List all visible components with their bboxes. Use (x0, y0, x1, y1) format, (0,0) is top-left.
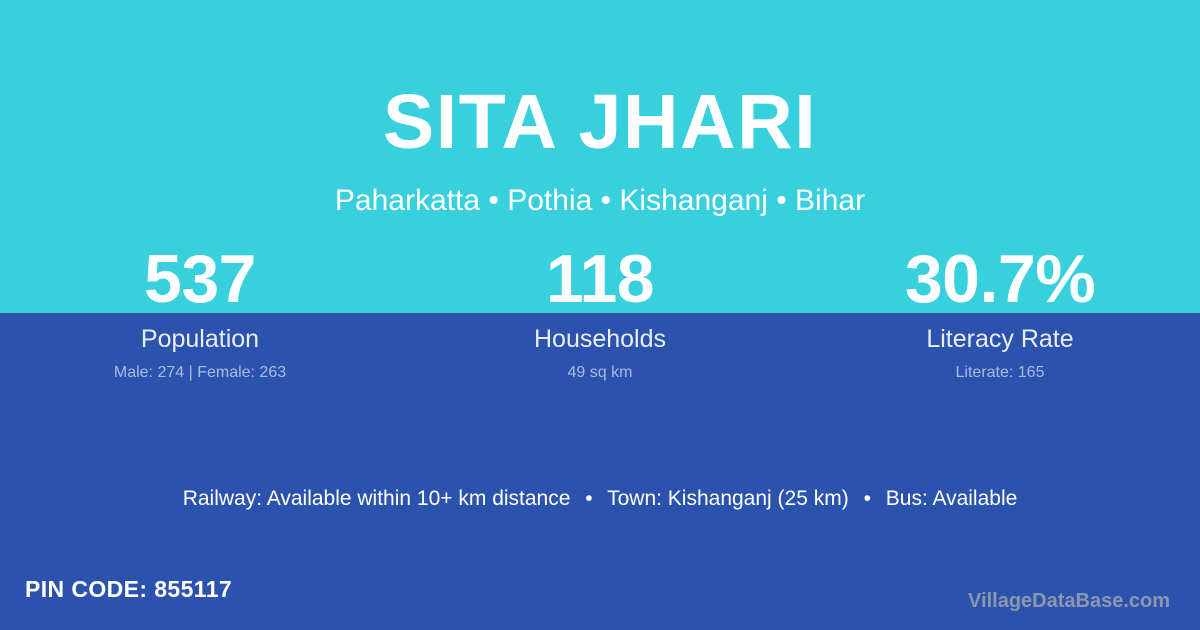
infra-bus: Bus: Available (886, 487, 1018, 510)
pin-code: PIN CODE: 855117 (25, 575, 232, 605)
stat-population: 537 Population Male: 274 | Female: 263 (0, 245, 400, 382)
page-title: SITA JHARI (0, 84, 1200, 161)
village-info-card: SITA JHARI Paharkatta • Pothia • Kishang… (0, 0, 1200, 630)
bullet-separator-icon: • (576, 485, 601, 512)
stat-population-label: Population (0, 325, 400, 354)
infrastructure-summary: Railway: Available within 10+ km distanc… (0, 485, 1200, 512)
stat-households: 118 Households 49 sq km (400, 245, 800, 382)
infra-railway: Railway: Available within 10+ km distanc… (183, 487, 571, 510)
stat-households-sub: 49 sq km (400, 364, 800, 382)
stat-population-sub: Male: 274 | Female: 263 (0, 364, 400, 382)
stat-population-value: 537 (0, 245, 400, 313)
stat-households-label: Households (400, 325, 800, 354)
site-branding: VillageDataBase.com (968, 588, 1170, 614)
infra-town: Town: Kishanganj (25 km) (607, 487, 849, 510)
stat-literacy-value: 30.7% (800, 245, 1200, 313)
bullet-separator-icon: • (855, 485, 880, 512)
stat-literacy-sub: Literate: 165 (800, 364, 1200, 382)
stat-literacy: 30.7% Literacy Rate Literate: 165 (800, 245, 1200, 382)
breadcrumb: Paharkatta • Pothia • Kishanganj • Bihar (0, 183, 1200, 219)
stats-row: 537 Population Male: 274 | Female: 263 1… (0, 245, 1200, 382)
stat-literacy-label: Literacy Rate (800, 325, 1200, 354)
stat-households-value: 118 (400, 245, 800, 313)
